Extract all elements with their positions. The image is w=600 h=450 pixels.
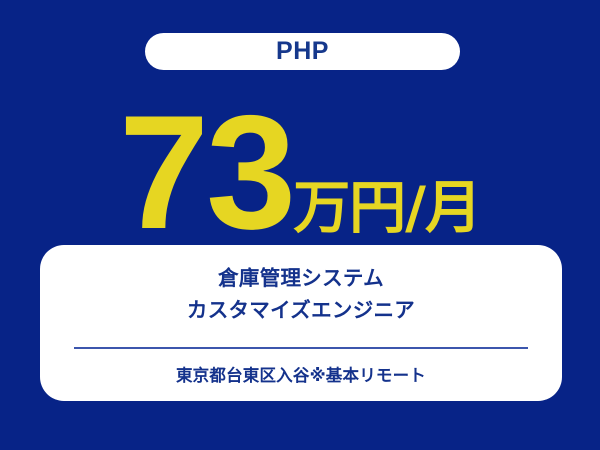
price-block: 73 万円/月 [0,96,600,236]
job-title: 倉庫管理システム カスタマイズエンジニア [187,263,415,327]
job-title-line-2: カスタマイズエンジニア [187,295,415,327]
price-unit: 万円/月 [293,182,481,236]
job-location: 東京都台東区入谷※基本リモート [176,366,426,386]
card-divider [74,347,528,349]
category-pill: PHP [145,33,460,70]
job-title-line-1: 倉庫管理システム [187,263,415,295]
job-info-card: 倉庫管理システム カスタマイズエンジニア 東京都台東区入谷※基本リモート [40,245,562,401]
category-pill-label: PHP [276,39,329,64]
price-amount: 73 [119,110,293,236]
job-offer-banner: PHP 73 万円/月 倉庫管理システム カスタマイズエンジニア 東京都台東区入… [0,0,600,450]
